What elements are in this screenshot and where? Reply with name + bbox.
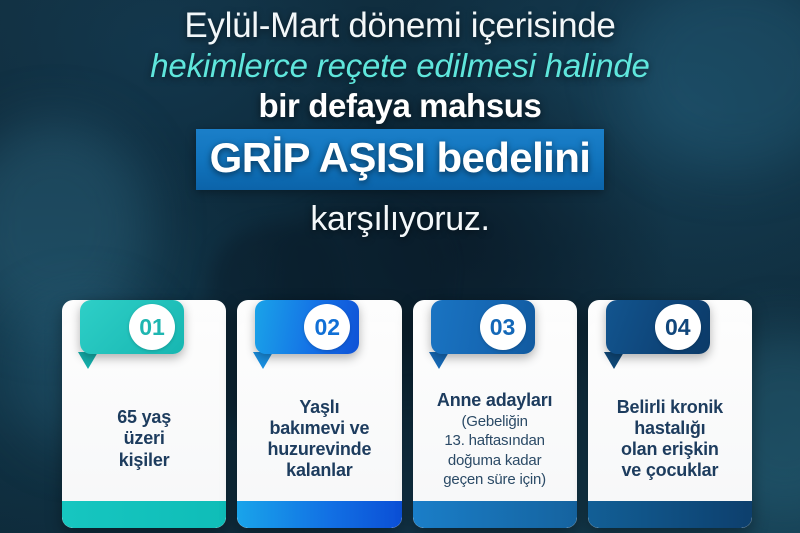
cards-row: 65 yaş üzeri kişiler 01 Yaşlı bakımevi v… <box>62 300 752 530</box>
headline-line-2-italic: hekimlerce reçete edilmesi halinde <box>0 49 800 90</box>
card-01-text: 65 yaş üzeri kişiler <box>66 382 222 496</box>
card-04-badge-tail <box>604 352 624 369</box>
card-03-title-line-1: Anne adayları <box>437 390 552 411</box>
headline-line-5: karşılıyoruz. <box>0 196 800 237</box>
poster-root: Eylül-Mart dönemi içerisinde hekimlerce … <box>0 0 800 533</box>
card-01-badge-tail <box>78 352 98 369</box>
headline-line-1: Eylül-Mart dönemi içerisinde <box>0 8 800 49</box>
headline-highlight-wrapper: GRİP AŞISI bedelini <box>0 129 800 196</box>
card-04-text: Belirli kronik hastalığı olan erişkin ve… <box>592 382 748 496</box>
card-01-title-line-2: üzeri <box>124 428 165 449</box>
card-01-badge: 01 <box>80 300 184 354</box>
card-01-accent-strip <box>62 501 226 528</box>
card-02-badge-tail <box>253 352 273 369</box>
card-04-title-line-3: olan erişkin <box>621 439 719 460</box>
headline-line-3-bold: bir defaya mahsus <box>0 89 800 129</box>
card-01-title-line-1: 65 yaş <box>117 407 171 428</box>
headline-highlight-band: GRİP AŞISI bedelini <box>196 129 605 190</box>
card-03-badge-tail <box>429 352 449 369</box>
card-03-sub-line-2: 13. haftasından <box>444 430 544 449</box>
card-04-title-line-1: Belirli kronik <box>617 397 723 418</box>
card-03-sub-line-3: doğuma kadar <box>448 450 542 469</box>
card-02-title-line-3: huzurevinde <box>267 439 371 460</box>
card-04[interactable]: Belirli kronik hastalığı olan erişkin ve… <box>588 300 752 528</box>
card-01-title-line-3: kişiler <box>119 450 170 471</box>
card-02-accent-strip <box>237 501 401 528</box>
card-03-sub-line-4: geçen süre için) <box>443 469 546 488</box>
card-03-sub-line-1: (Gebeliğin <box>461 411 527 430</box>
card-03[interactable]: Anne adayları (Gebeliğin 13. haftasından… <box>413 300 577 528</box>
card-04-title-line-4: ve çocuklar <box>621 460 718 481</box>
card-03-accent-strip <box>413 501 577 528</box>
card-02-title-line-4: kalanlar <box>286 460 352 481</box>
card-02-badge: 02 <box>255 300 359 354</box>
card-03-text: Anne adayları (Gebeliğin 13. haftasından… <box>417 382 573 496</box>
card-04-badge: 04 <box>606 300 710 354</box>
card-01[interactable]: 65 yaş üzeri kişiler 01 <box>62 300 226 528</box>
card-04-title-line-2: hastalığı <box>634 418 705 439</box>
card-02-title-line-1: Yaşlı <box>299 397 339 418</box>
card-02-number: 02 <box>304 304 350 350</box>
headline-block: Eylül-Mart dönemi içerisinde hekimlerce … <box>0 8 800 237</box>
card-03-number: 03 <box>480 304 526 350</box>
card-03-badge: 03 <box>431 300 535 354</box>
card-02-text: Yaşlı bakımevi ve huzurevinde kalanlar <box>241 382 397 496</box>
card-01-number: 01 <box>129 304 175 350</box>
card-02[interactable]: Yaşlı bakımevi ve huzurevinde kalanlar 0… <box>237 300 401 528</box>
card-04-number: 04 <box>655 304 701 350</box>
card-02-title-line-2: bakımevi ve <box>269 418 369 439</box>
card-04-accent-strip <box>588 501 752 528</box>
